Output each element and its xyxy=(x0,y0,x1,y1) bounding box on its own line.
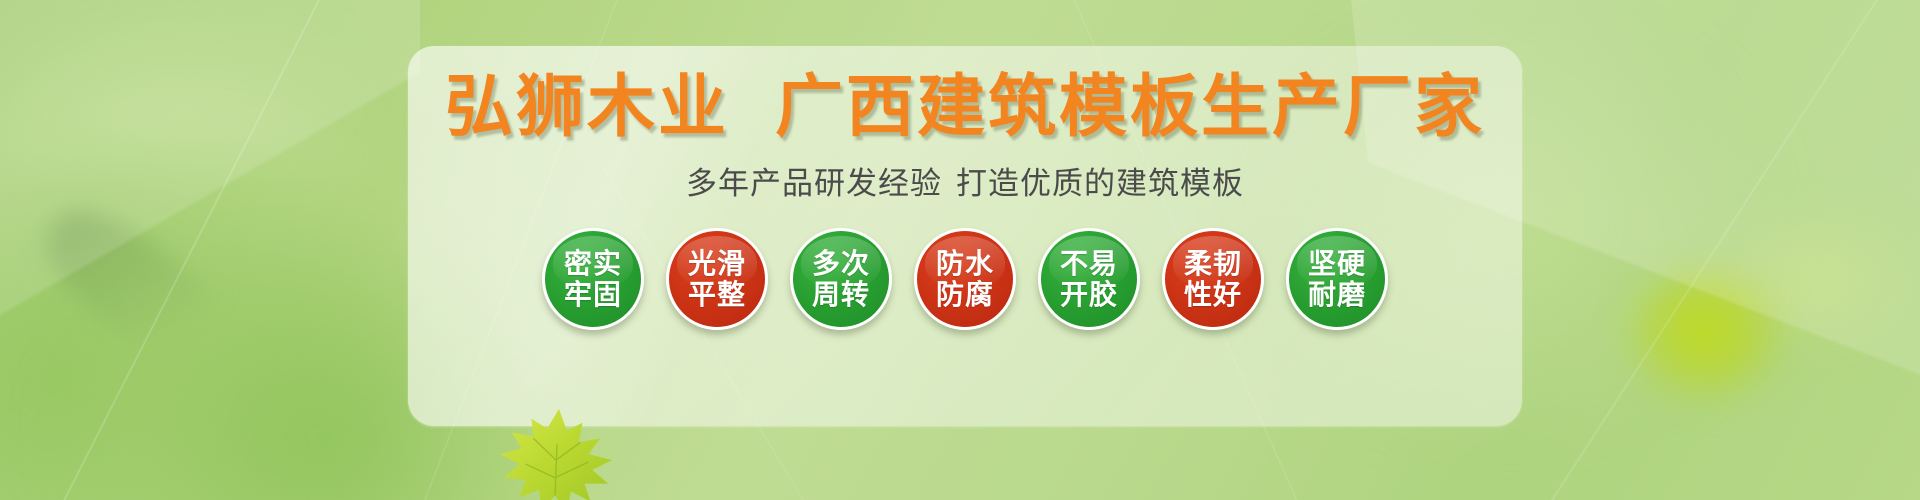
badge-line-1: 防水 xyxy=(936,248,994,279)
subtitle-part-2: 打造优质的建筑模板 xyxy=(956,166,1244,201)
feature-badge-dense-firm: 密实 牢固 xyxy=(542,228,644,330)
badge-line-2: 平整 xyxy=(688,279,746,310)
background-stem-blur xyxy=(27,189,264,402)
badge-line-1: 不易 xyxy=(1060,248,1118,279)
feature-badge-no-delamination: 不易 开胶 xyxy=(1038,228,1140,330)
badge-line-1: 柔韧 xyxy=(1184,248,1242,279)
badge-line-1: 多次 xyxy=(812,248,870,279)
badge-line-1: 密实 xyxy=(564,248,622,279)
banner-headline: 弘狮木业广西建筑模板生产厂家 xyxy=(408,66,1522,148)
promo-banner: 弘狮木业广西建筑模板生产厂家 多年产品研发经验打造优质的建筑模板 密实 牢固 光… xyxy=(0,0,1920,500)
feature-badge-list: 密实 牢固 光滑 平整 多次 周转 防水 防腐 不易 开胶 柔韧 性好 xyxy=(408,228,1522,330)
headline-description: 广西建筑模板生产厂家 xyxy=(775,69,1485,145)
feature-badge-reusable: 多次 周转 xyxy=(790,228,892,330)
badge-line-2: 耐磨 xyxy=(1308,279,1366,310)
background-light-wedge-left xyxy=(0,0,420,500)
feature-badge-flexible: 柔韧 性好 xyxy=(1162,228,1264,330)
badge-line-2: 性好 xyxy=(1184,279,1242,310)
subtitle-part-1: 多年产品研发经验 xyxy=(686,166,942,201)
background-streak xyxy=(0,0,387,500)
background-leaf-blur-right-upper xyxy=(1700,200,1920,360)
badge-line-2: 周转 xyxy=(812,279,870,310)
badge-line-1: 坚硬 xyxy=(1308,248,1366,279)
banner-subtitle: 多年产品研发经验打造优质的建筑模板 xyxy=(408,164,1522,204)
badge-line-1: 光滑 xyxy=(688,248,746,279)
feature-badge-hard-wearproof: 坚硬 耐磨 xyxy=(1286,228,1388,330)
badge-line-2: 牢固 xyxy=(564,279,622,310)
badge-line-2: 防腐 xyxy=(936,279,994,310)
badge-line-2: 开胶 xyxy=(1060,279,1118,310)
background-leaf-yellow-blur-right xyxy=(1620,268,1790,408)
headline-brand: 弘狮木业 xyxy=(445,69,729,145)
banner-content: 弘狮木业广西建筑模板生产厂家 多年产品研发经验打造优质的建筑模板 密实 牢固 光… xyxy=(408,46,1522,426)
feature-badge-waterproof: 防水 防腐 xyxy=(914,228,1016,330)
background-leaf-blur-top-left xyxy=(0,0,360,300)
feature-badge-smooth-flat: 光滑 平整 xyxy=(666,228,768,330)
